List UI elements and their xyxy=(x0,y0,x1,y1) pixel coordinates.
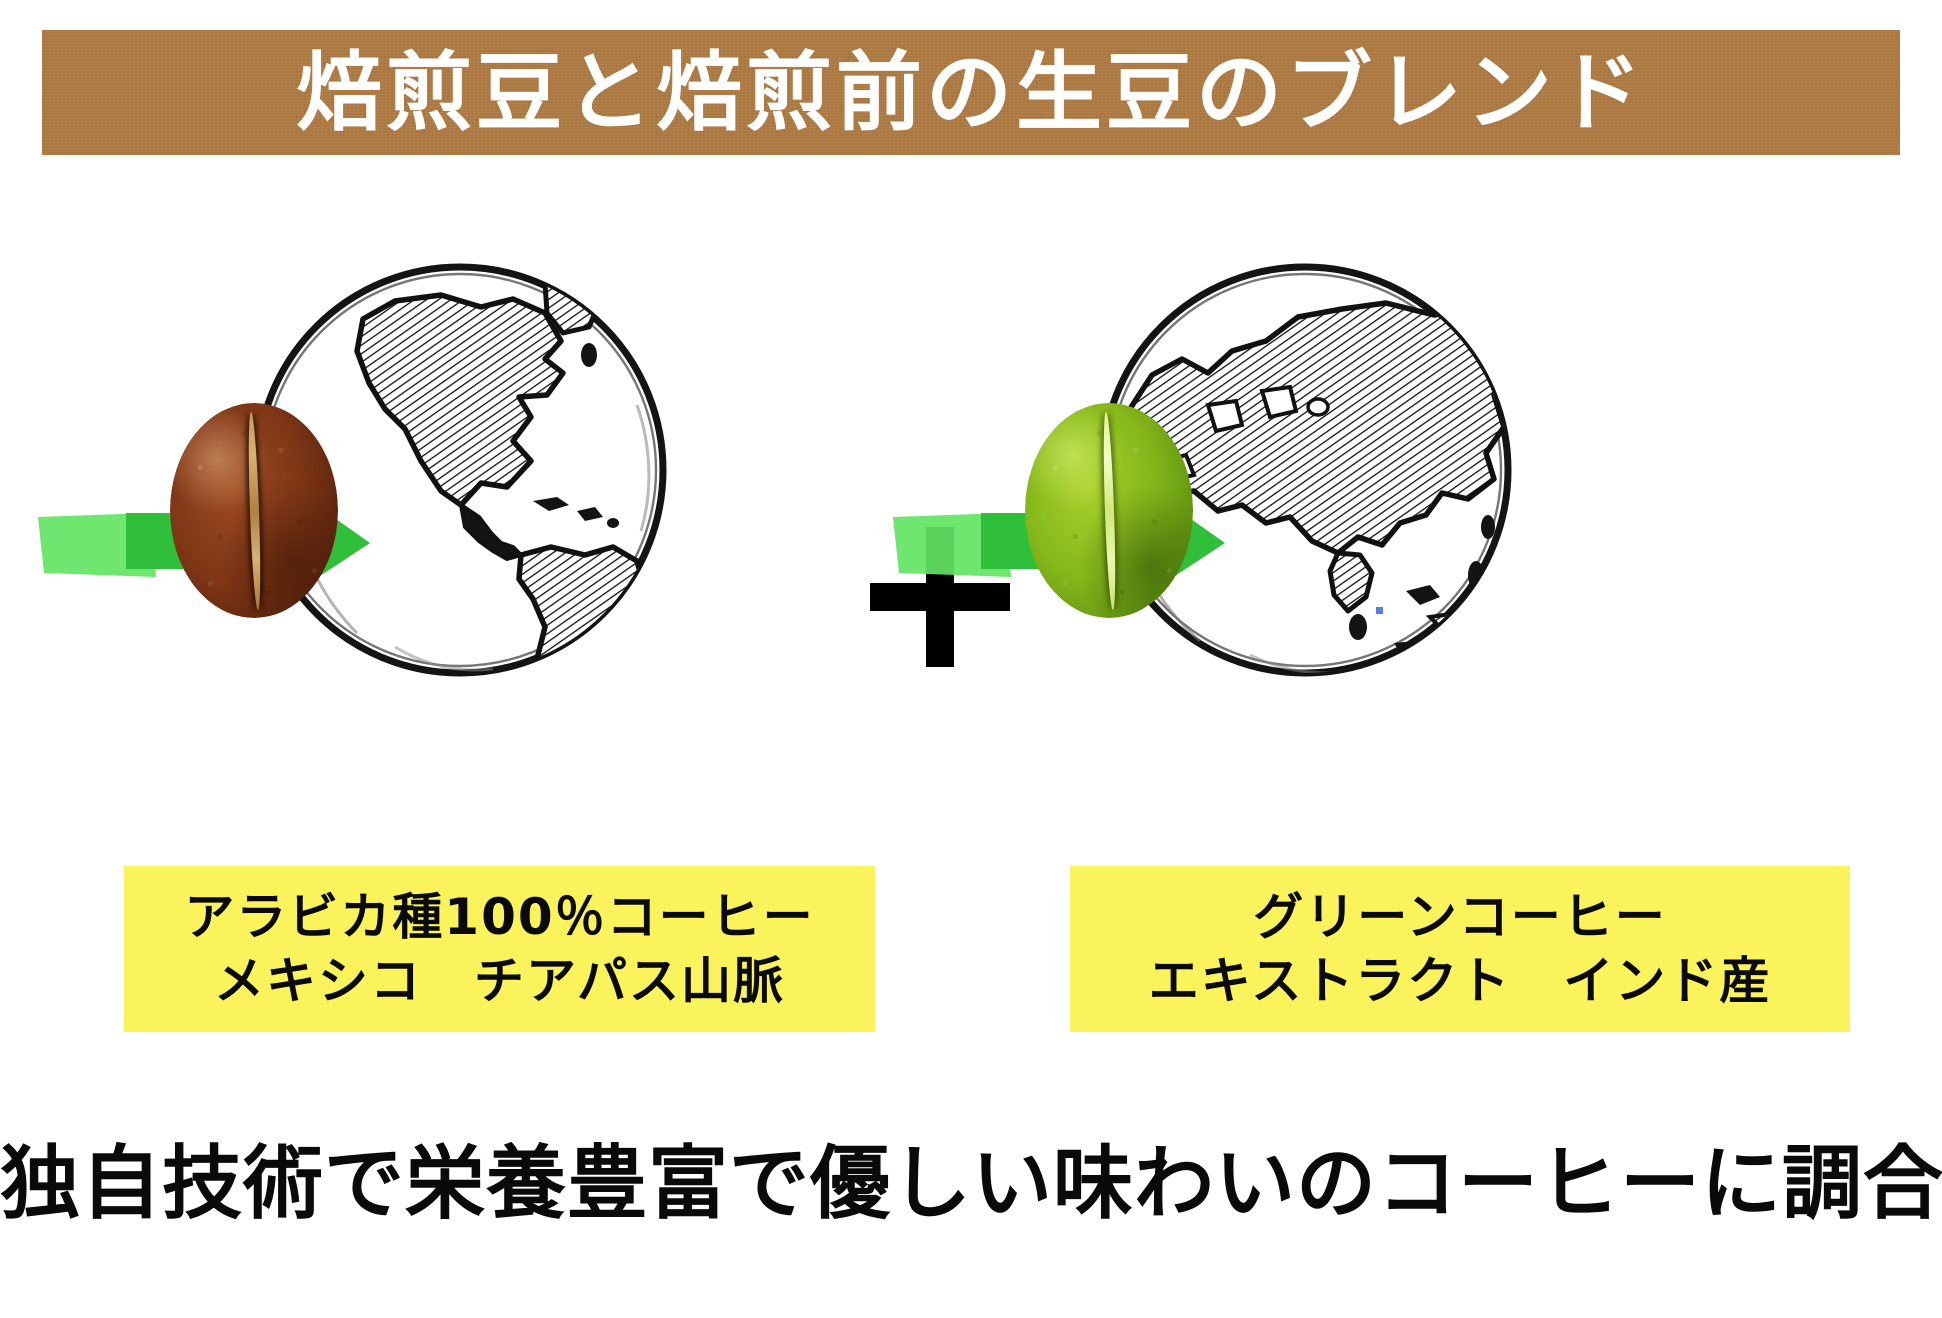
label-roasted-line2: メキシコ チアパス山脈 xyxy=(214,949,785,1013)
panel-roasted-bean xyxy=(30,255,830,695)
label-roasted-line1: アラビカ種100％コーヒー xyxy=(184,885,814,949)
title-banner: 焙煎豆と焙煎前の生豆のブレンド xyxy=(42,30,1900,155)
slide-canvas: 焙煎豆と焙煎前の生豆のブレンド xyxy=(0,0,1942,1318)
roasted-coffee-bean-icon xyxy=(170,403,338,618)
label-green-line2: エキストラクト インド産 xyxy=(1149,949,1772,1013)
footer-caption: 独自技術で栄養豊富で優しい味わいのコーヒーに調合 xyxy=(0,1140,1942,1228)
green-coffee-bean-icon xyxy=(1025,403,1193,618)
label-box-green: グリーンコーヒー エキストラクト インド産 xyxy=(1070,866,1850,1032)
panel-green-bean xyxy=(885,255,1685,695)
label-box-roasted: アラビカ種100％コーヒー メキシコ チアパス山脈 xyxy=(124,866,875,1032)
label-green-line1: グリーンコーヒー xyxy=(1253,885,1667,949)
page-title: 焙煎豆と焙煎前の生豆のブレンド xyxy=(296,50,1646,136)
